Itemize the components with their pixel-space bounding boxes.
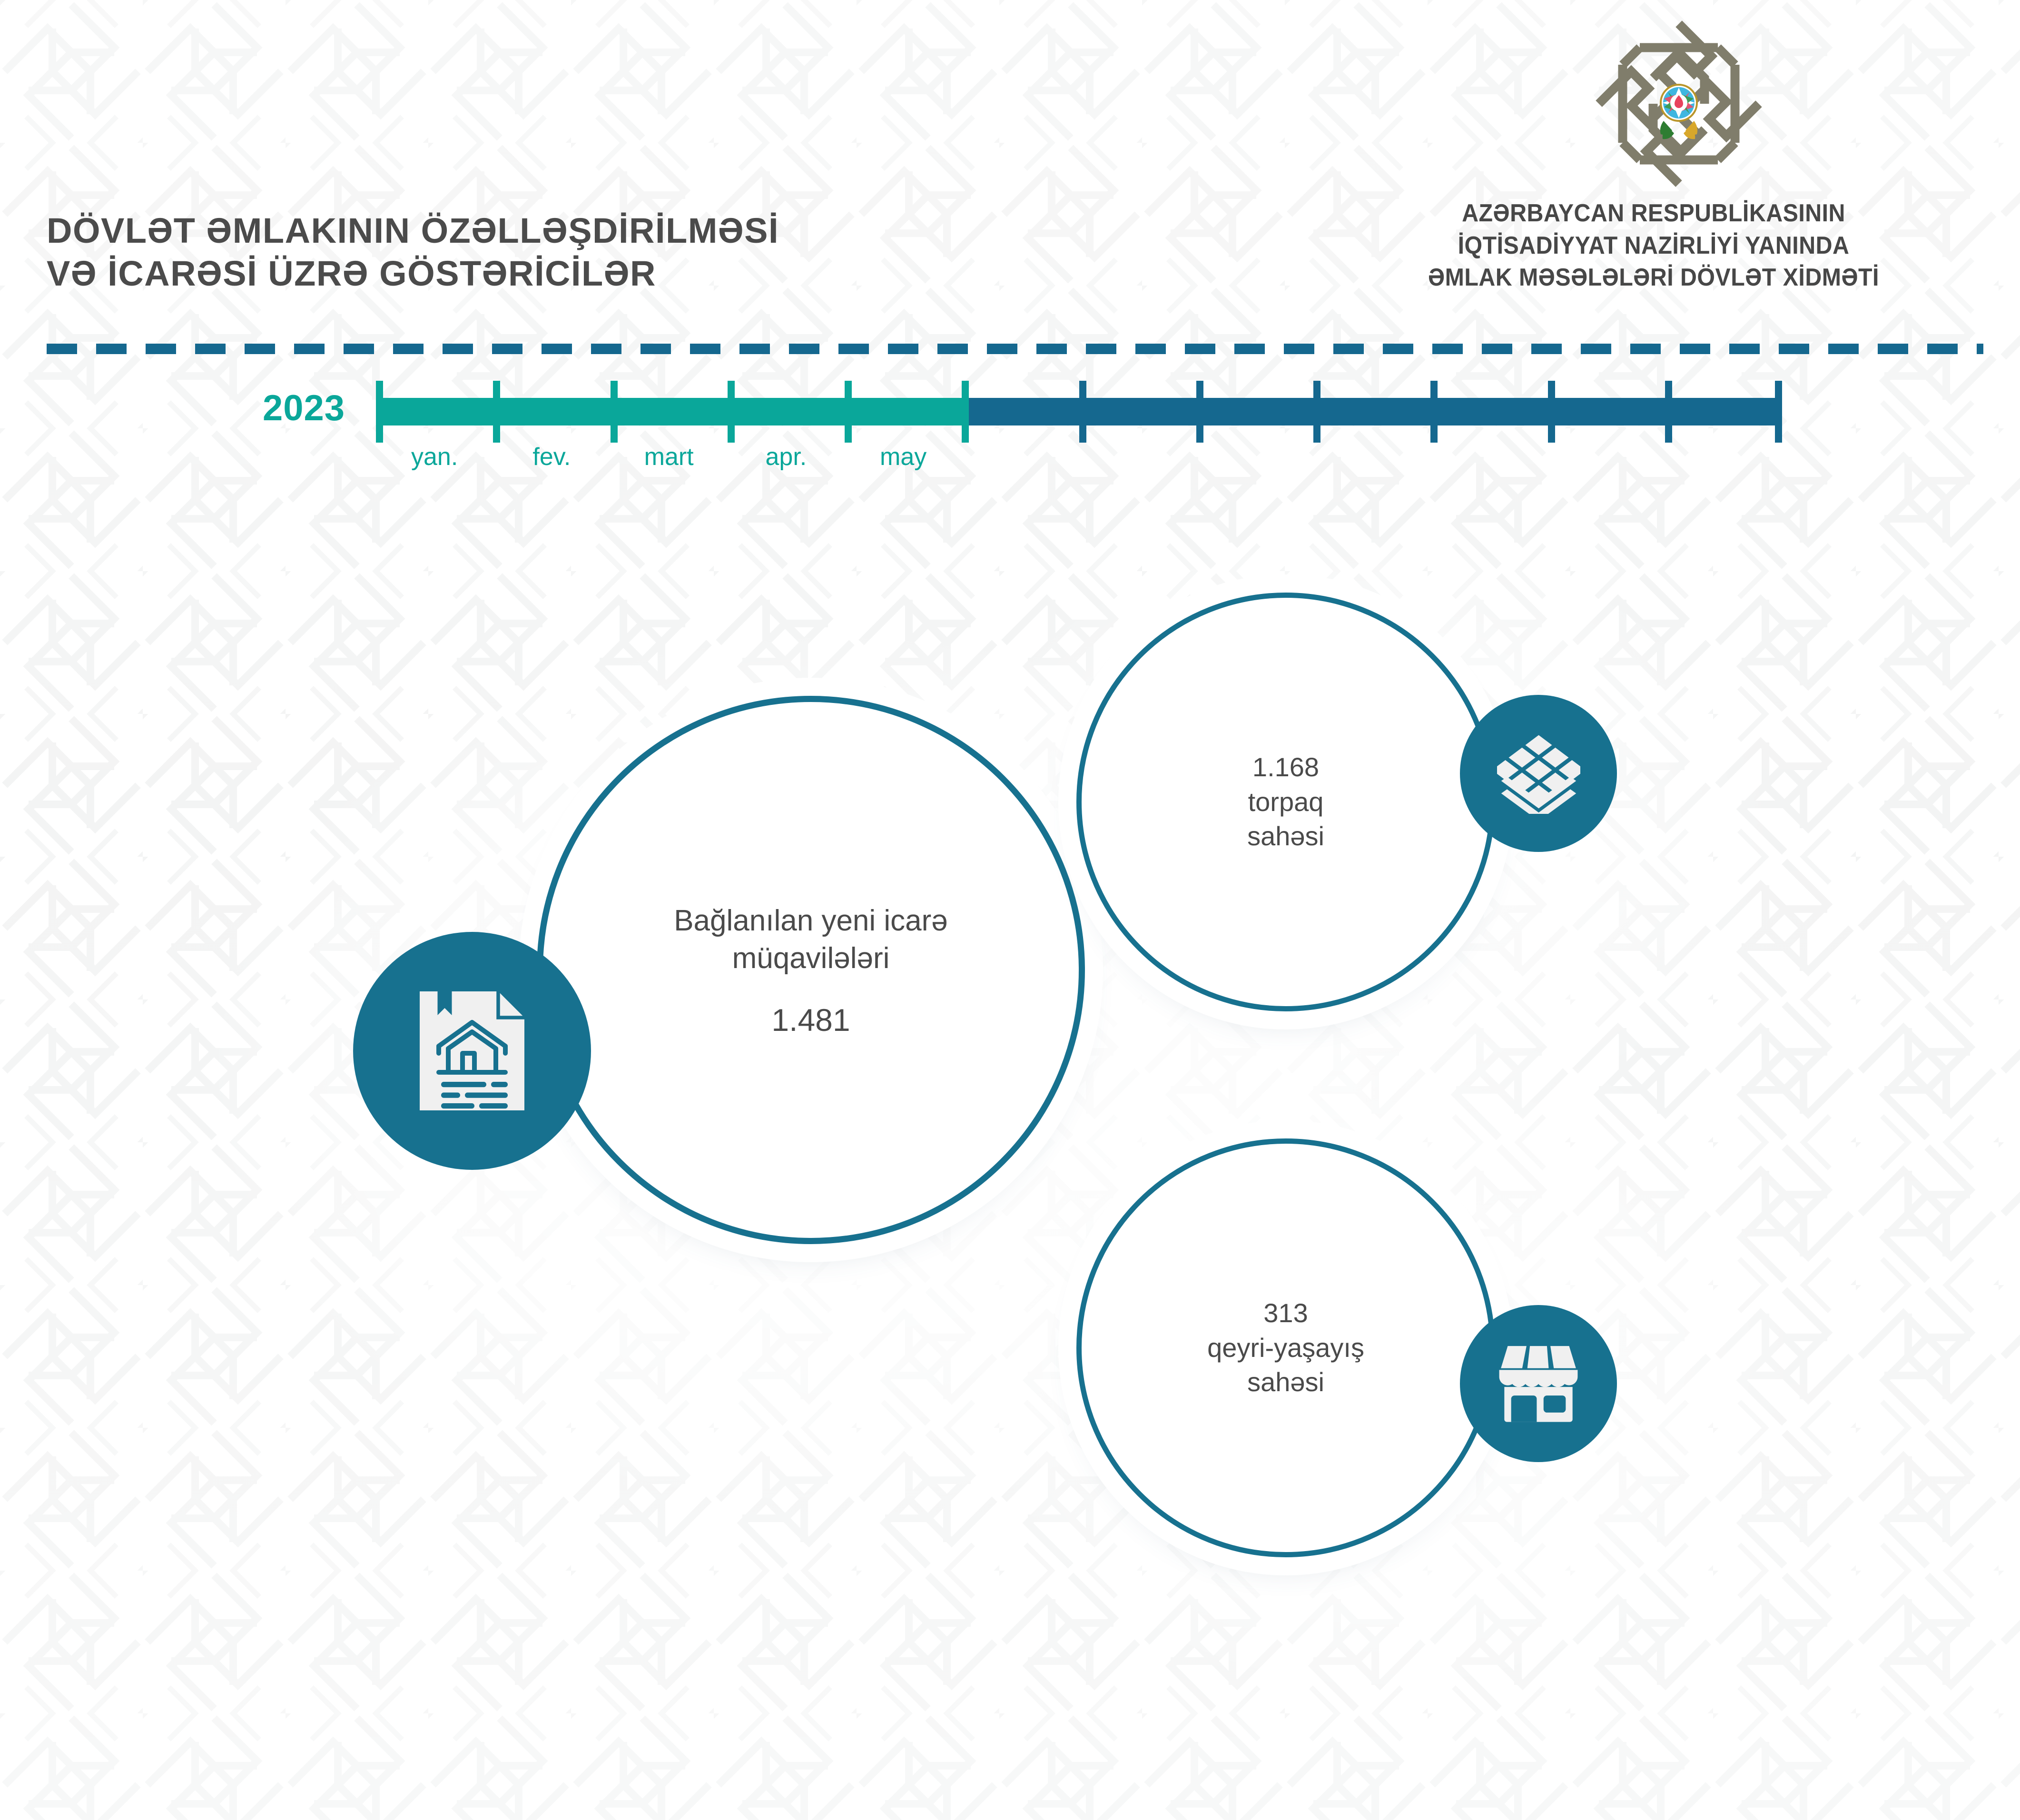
timeline-tick-8 (1313, 381, 1320, 443)
store-shop-icon (1460, 1305, 1617, 1462)
timeline-tick-7 (1196, 381, 1203, 443)
timeline-month-labels: yan.fev.martapr.may (376, 443, 1782, 476)
timeline-month-yan: yan. (411, 443, 458, 471)
timeline-month-mart: mart (644, 443, 694, 471)
organization-name: AZƏRBAYCAN RESPUBLİKASININ İQTİSADİYYAT … (1313, 198, 1994, 294)
timeline-month-apr: apr. (766, 443, 807, 471)
dashed-divider (47, 344, 1983, 354)
bubble-label-nonresidential-line2: sahəsi (1247, 1365, 1324, 1400)
page-title-line-1: DÖVLƏT ƏMLAKININ ÖZƏLLƏŞDİRİLMƏSİ (47, 209, 779, 252)
timeline-tick-10 (1548, 381, 1555, 443)
bubble-label-land-plots-line2: sahəsi (1247, 819, 1324, 854)
bubble-content: Bağlanılan yeni icarə müqavilələri 1.481 (537, 696, 1085, 1244)
bubble-label-land-plots-line1: torpaq (1248, 785, 1324, 820)
emblem-logo (1584, 9, 1774, 199)
timeline-ticks (376, 381, 1782, 443)
timeline-tick-6 (1079, 381, 1086, 443)
coat-of-arms-icon (1660, 84, 1697, 139)
organization-line-2: İQTİSADİYYAT NAZİRLİYİ YANINDA (1337, 230, 1970, 262)
timeline-tick-0 (376, 381, 383, 443)
timeline-tick-5 (962, 381, 969, 443)
metric-bubble-nonresidential[interactable]: 313 qeyri-yaşayış sahəsi (1076, 1138, 1495, 1557)
organization-line-3: ƏMLAK MƏSƏLƏLƏRİ DÖVLƏT XİDMƏTİ (1337, 262, 1970, 294)
bubble-label-nonresidential-line1: qeyri-yaşayış (1207, 1331, 1364, 1365)
timeline-tick-11 (1665, 381, 1672, 443)
timeline-tick-2 (611, 381, 618, 443)
bubble-content: 313 qeyri-yaşayış sahəsi (1076, 1138, 1495, 1557)
timeline-tick-12 (1775, 381, 1782, 443)
contract-house-document-icon (353, 932, 591, 1170)
timeline: 2023 yan.fev.martapr.may (263, 381, 1904, 452)
bubble-value-nonresidential: 313 (1263, 1296, 1308, 1331)
timeline-tick-4 (845, 381, 852, 443)
timeline-tick-9 (1430, 381, 1438, 443)
page-title-line-2: VƏ İCARƏSİ ÜZRƏ GÖSTƏRİCİLƏR (47, 252, 779, 295)
timeline-tick-3 (728, 381, 735, 443)
land-plots-layers-icon (1460, 695, 1617, 852)
timeline-tick-1 (493, 381, 500, 443)
timeline-year: 2023 (263, 387, 345, 429)
organization-line-1: AZƏRBAYCAN RESPUBLİKASININ (1337, 198, 1970, 230)
bubble-value-land-plots: 1.168 (1252, 750, 1319, 785)
timeline-month-may: may (880, 443, 926, 471)
timeline-month-fev: fev. (532, 443, 571, 471)
bubble-content: 1.168 torpaq sahəsi (1076, 593, 1495, 1011)
metric-bubble-lease-contracts[interactable]: Bağlanılan yeni icarə müqavilələri 1.481 (537, 696, 1085, 1244)
bubble-label-lease-contracts: Bağlanılan yeni icarə müqavilələri (591, 902, 1030, 978)
bubble-value-lease-contracts: 1.481 (771, 1002, 850, 1038)
page-title: DÖVLƏT ƏMLAKININ ÖZƏLLƏŞDİRİLMƏSİ VƏ İCA… (47, 209, 779, 296)
metric-bubble-land-plots[interactable]: 1.168 torpaq sahəsi (1076, 593, 1495, 1011)
